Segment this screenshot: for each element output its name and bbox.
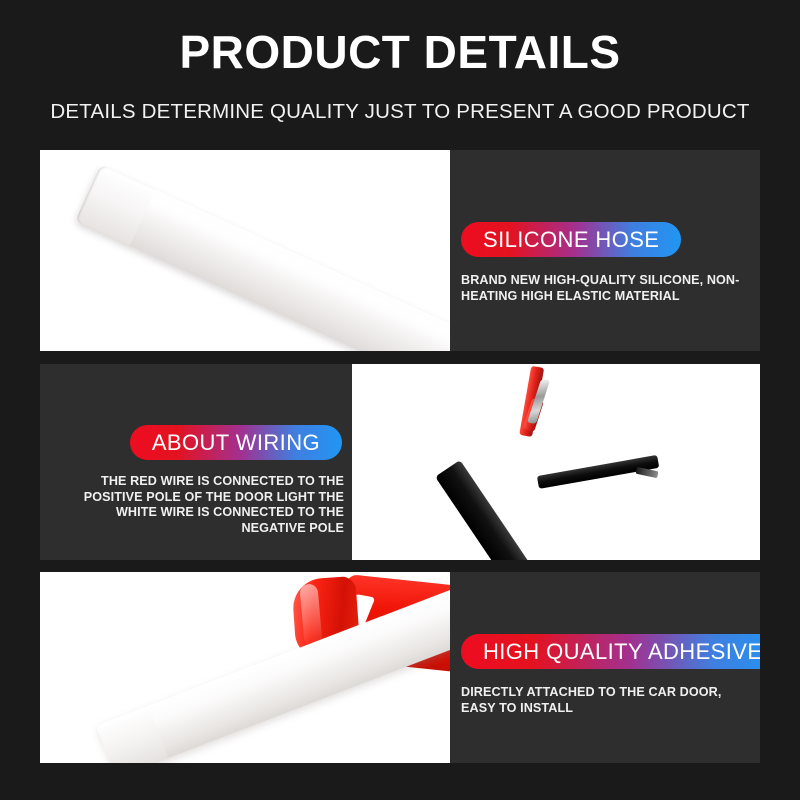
page-title: PRODUCT DETAILS	[0, 26, 800, 78]
badge-high-quality-adhesive: HIGH QUALITY ADHESIVE	[461, 634, 760, 669]
strip-highlight-shape	[146, 195, 450, 351]
wire-illustration	[352, 364, 760, 560]
silicone-strip-shape	[75, 165, 450, 351]
header: PRODUCT DETAILS DETAILS DETERMINE QUALIT…	[0, 0, 800, 140]
description-about-wiring: THE RED WIRE IS CONNECTED TO THE POSITIV…	[52, 474, 344, 536]
strip-end-cap-shape	[96, 706, 168, 763]
product-photo-wiring	[352, 364, 760, 560]
strip-end-cap-shape	[75, 165, 155, 246]
description-silicone-hose: BRAND NEW HIGH-QUALITY SILICONE, NON-HEA…	[461, 273, 751, 304]
product-photo-adhesive	[40, 572, 450, 763]
black-wire-main-shape	[435, 460, 544, 560]
black-wire-tip-shape	[636, 467, 659, 478]
text-panel-silicone-hose: SILICONE HOSE BRAND NEW HIGH-QUALITY SIL…	[450, 150, 760, 351]
badge-silicone-hose: SILICONE HOSE	[461, 222, 681, 257]
section-about-wiring: ABOUT WIRING THE RED WIRE IS CONNECTED T…	[40, 364, 760, 560]
product-photo-silicone-hose	[40, 150, 450, 351]
section-silicone-hose: SILICONE HOSE BRAND NEW HIGH-QUALITY SIL…	[40, 150, 760, 351]
description-high-quality-adhesive: DIRECTLY ATTACHED TO THE CAR DOOR, EASY …	[461, 685, 751, 716]
text-panel-adhesive: HIGH QUALITY ADHESIVE DIRECTLY ATTACHED …	[450, 572, 760, 763]
product-details-infographic: PRODUCT DETAILS DETAILS DETERMINE QUALIT…	[0, 0, 800, 800]
page-subtitle: DETAILS DETERMINE QUALITY JUST TO PRESEN…	[0, 100, 800, 124]
section-high-quality-adhesive: HIGH QUALITY ADHESIVE DIRECTLY ATTACHED …	[40, 572, 760, 763]
badge-about-wiring: ABOUT WIRING	[130, 425, 342, 460]
text-panel-about-wiring: ABOUT WIRING THE RED WIRE IS CONNECTED T…	[40, 364, 352, 560]
